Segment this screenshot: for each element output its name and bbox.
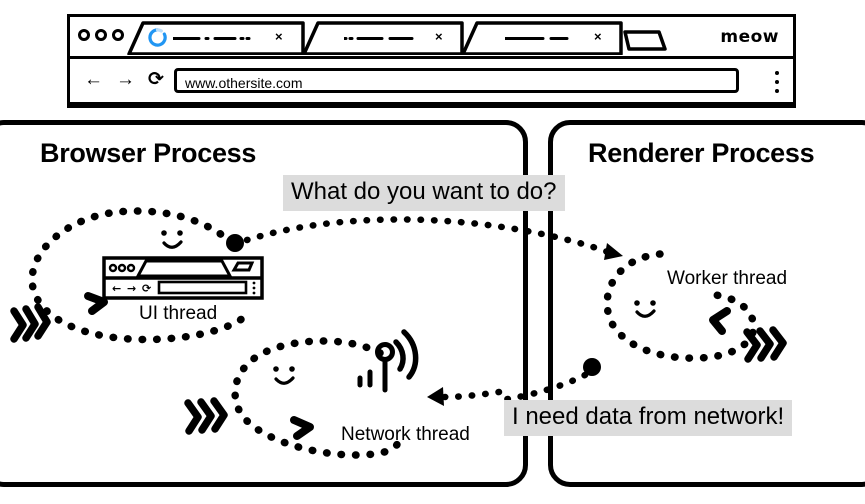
browser-brand-label: meow	[720, 27, 779, 47]
window-dot-icon-3[interactable]	[112, 29, 124, 41]
browser-toolbar: ← → ⟳ www.othersite.com	[70, 59, 793, 105]
ui-thread-label: UI thread	[139, 303, 217, 325]
tab-strip: × × × meow	[70, 17, 793, 59]
tab-close-icon-2[interactable]: ×	[435, 30, 443, 43]
network-thread-label: Network thread	[341, 424, 470, 446]
renderer-process-title: Renderer Process	[588, 138, 814, 169]
message-what-do-you-want: What do you want to do?	[283, 175, 565, 211]
loading-spinner-icon	[148, 28, 167, 47]
tab-close-icon-1[interactable]: ×	[275, 30, 283, 43]
browser-process-title: Browser Process	[40, 138, 256, 169]
forward-icon[interactable]: →	[116, 70, 135, 89]
worker-thread-label: Worker thread	[667, 268, 787, 290]
new-tab-icon[interactable]	[623, 29, 667, 51]
window-dot-icon-1[interactable]	[78, 29, 90, 41]
window-controls[interactable]	[78, 29, 124, 41]
tab-title-placeholder-2	[344, 35, 414, 42]
message-need-data: I need data from network!	[504, 400, 792, 436]
browser-tab-3[interactable]: ×	[461, 21, 625, 55]
tab-title-placeholder-3	[505, 35, 575, 42]
back-icon[interactable]: ←	[84, 70, 103, 89]
tab-title-placeholder-1	[173, 35, 253, 42]
reload-icon[interactable]: ⟳	[148, 70, 164, 89]
browser-window: × × × meow ← →	[67, 14, 796, 108]
browser-tab-2[interactable]: ×	[302, 21, 466, 55]
address-bar-text: www.othersite.com	[185, 75, 302, 91]
address-bar[interactable]: www.othersite.com	[174, 68, 739, 93]
browser-tab-1[interactable]: ×	[127, 21, 307, 55]
window-dot-icon-2[interactable]	[95, 29, 107, 41]
tab-close-icon-3[interactable]: ×	[594, 30, 602, 43]
kebab-menu-icon[interactable]	[775, 71, 779, 98]
